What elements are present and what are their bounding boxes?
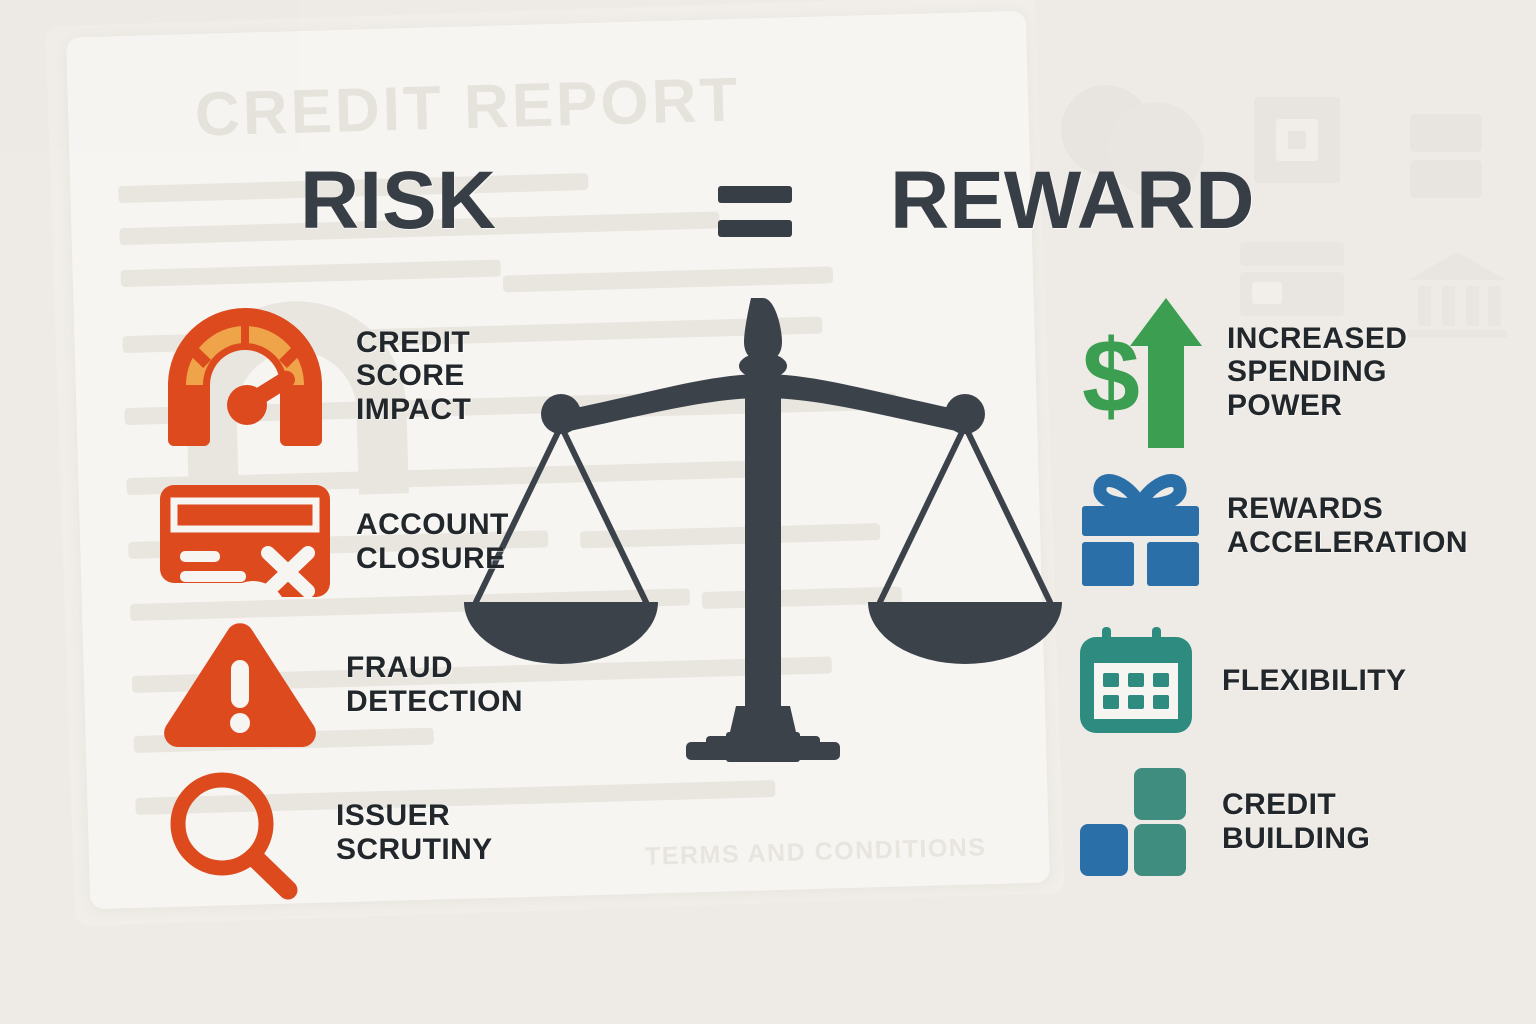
chip-square-decoration-icon bbox=[1252, 95, 1342, 185]
risk-item-label: CREDIT SCORE IMPACT bbox=[356, 326, 471, 427]
reward-item-label: FLEXIBILITY bbox=[1222, 664, 1406, 698]
page-title-risk: RISK bbox=[300, 160, 496, 242]
calendar-icon bbox=[1078, 625, 1198, 737]
risk-item-issuer-scrutiny: ISSUER SCRUTINY bbox=[160, 768, 580, 898]
reward-item-credit-building: CREDIT BUILDING bbox=[1078, 758, 1508, 886]
reward-item-label: CREDIT BUILDING bbox=[1222, 788, 1370, 855]
equals-sign-icon bbox=[718, 186, 792, 242]
risk-item-credit-score-impact: CREDIT SCORE IMPACT bbox=[160, 296, 580, 456]
svg-text:$: $ bbox=[1082, 319, 1140, 435]
warning-triangle-icon bbox=[160, 618, 320, 753]
risk-item-label: FRAUD DETECTION bbox=[346, 651, 523, 718]
speedometer-gauge-icon bbox=[160, 300, 330, 452]
magnifying-glass-icon bbox=[160, 766, 310, 901]
gift-box-icon bbox=[1078, 464, 1203, 589]
reward-item-label: REWARDS ACCELERATION bbox=[1227, 492, 1468, 559]
dollar-up-arrow-icon: $ bbox=[1078, 290, 1203, 455]
credit-card-x-icon bbox=[160, 479, 330, 604]
page-title-reward: REWARD bbox=[890, 160, 1254, 242]
risk-item-account-closure: ACCOUNT CLOSURE bbox=[160, 474, 580, 609]
building-blocks-icon bbox=[1078, 766, 1198, 878]
credit-report-watermark: CREDIT REPORT bbox=[194, 64, 741, 150]
infographic-canvas: CREDIT REPORT TERMS AND CONDITIONS RISK … bbox=[0, 0, 1536, 1024]
card-stack-decoration-icon bbox=[1408, 112, 1488, 212]
reward-item-rewards-acceleration: REWARDS ACCELERATION bbox=[1078, 456, 1508, 596]
risk-item-label: ISSUER SCRUTINY bbox=[336, 799, 493, 866]
reward-item-flexibility: FLEXIBILITY bbox=[1078, 618, 1508, 743]
reward-item-increased-spending-power: $ INCREASED SPENDING POWER bbox=[1078, 288, 1508, 456]
risk-item-fraud-detection: FRAUD DETECTION bbox=[160, 615, 580, 755]
risk-item-label: ACCOUNT CLOSURE bbox=[356, 508, 509, 575]
reward-item-label: INCREASED SPENDING POWER bbox=[1227, 322, 1407, 423]
